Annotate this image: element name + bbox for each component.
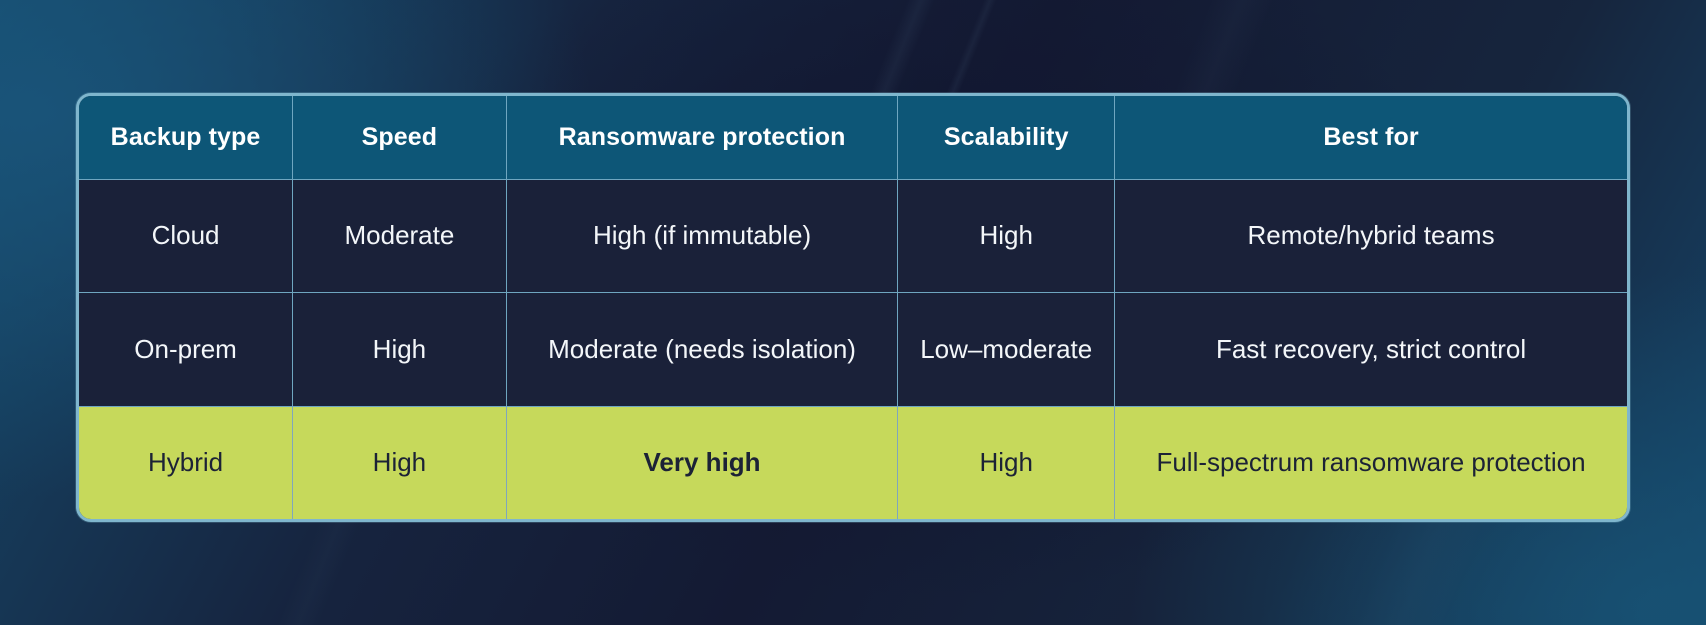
cell-best-for: Remote/hybrid teams <box>1115 179 1627 293</box>
table-body: Cloud Moderate High (if immutable) High … <box>79 179 1627 519</box>
cell-scalability: High <box>898 406 1115 519</box>
table-row-highlighted: Hybrid High Very high High Full-spectrum… <box>79 406 1627 519</box>
cell-ransomware-protection: High (if immutable) <box>506 179 898 293</box>
cell-backup-type: Hybrid <box>79 406 293 519</box>
column-header-ransomware-protection: Ransomware protection <box>506 96 898 179</box>
cell-scalability: Low–moderate <box>898 293 1115 407</box>
table-header-row: Backup type Speed Ransomware protection … <box>79 96 1627 179</box>
cell-speed: High <box>293 293 507 407</box>
cell-speed: Moderate <box>293 179 507 293</box>
table-row: On-prem High Moderate (needs isolation) … <box>79 293 1627 407</box>
cell-ransomware-protection: Moderate (needs isolation) <box>506 293 898 407</box>
cell-best-for: Full-spectrum ransomware protection <box>1115 406 1627 519</box>
column-header-best-for: Best for <box>1115 96 1627 179</box>
column-header-backup-type: Backup type <box>79 96 293 179</box>
table-header: Backup type Speed Ransomware protection … <box>79 96 1627 179</box>
cell-speed: High <box>293 406 507 519</box>
column-header-speed: Speed <box>293 96 507 179</box>
table-row: Cloud Moderate High (if immutable) High … <box>79 179 1627 293</box>
cell-backup-type: Cloud <box>79 179 293 293</box>
comparison-table-card: Backup type Speed Ransomware protection … <box>76 93 1630 522</box>
cell-ransomware-protection: Very high <box>506 406 898 519</box>
backup-comparison-table: Backup type Speed Ransomware protection … <box>79 96 1627 519</box>
column-header-scalability: Scalability <box>898 96 1115 179</box>
cell-best-for: Fast recovery, strict control <box>1115 293 1627 407</box>
cell-scalability: High <box>898 179 1115 293</box>
background-canvas: Backup type Speed Ransomware protection … <box>0 0 1706 625</box>
cell-backup-type: On-prem <box>79 293 293 407</box>
